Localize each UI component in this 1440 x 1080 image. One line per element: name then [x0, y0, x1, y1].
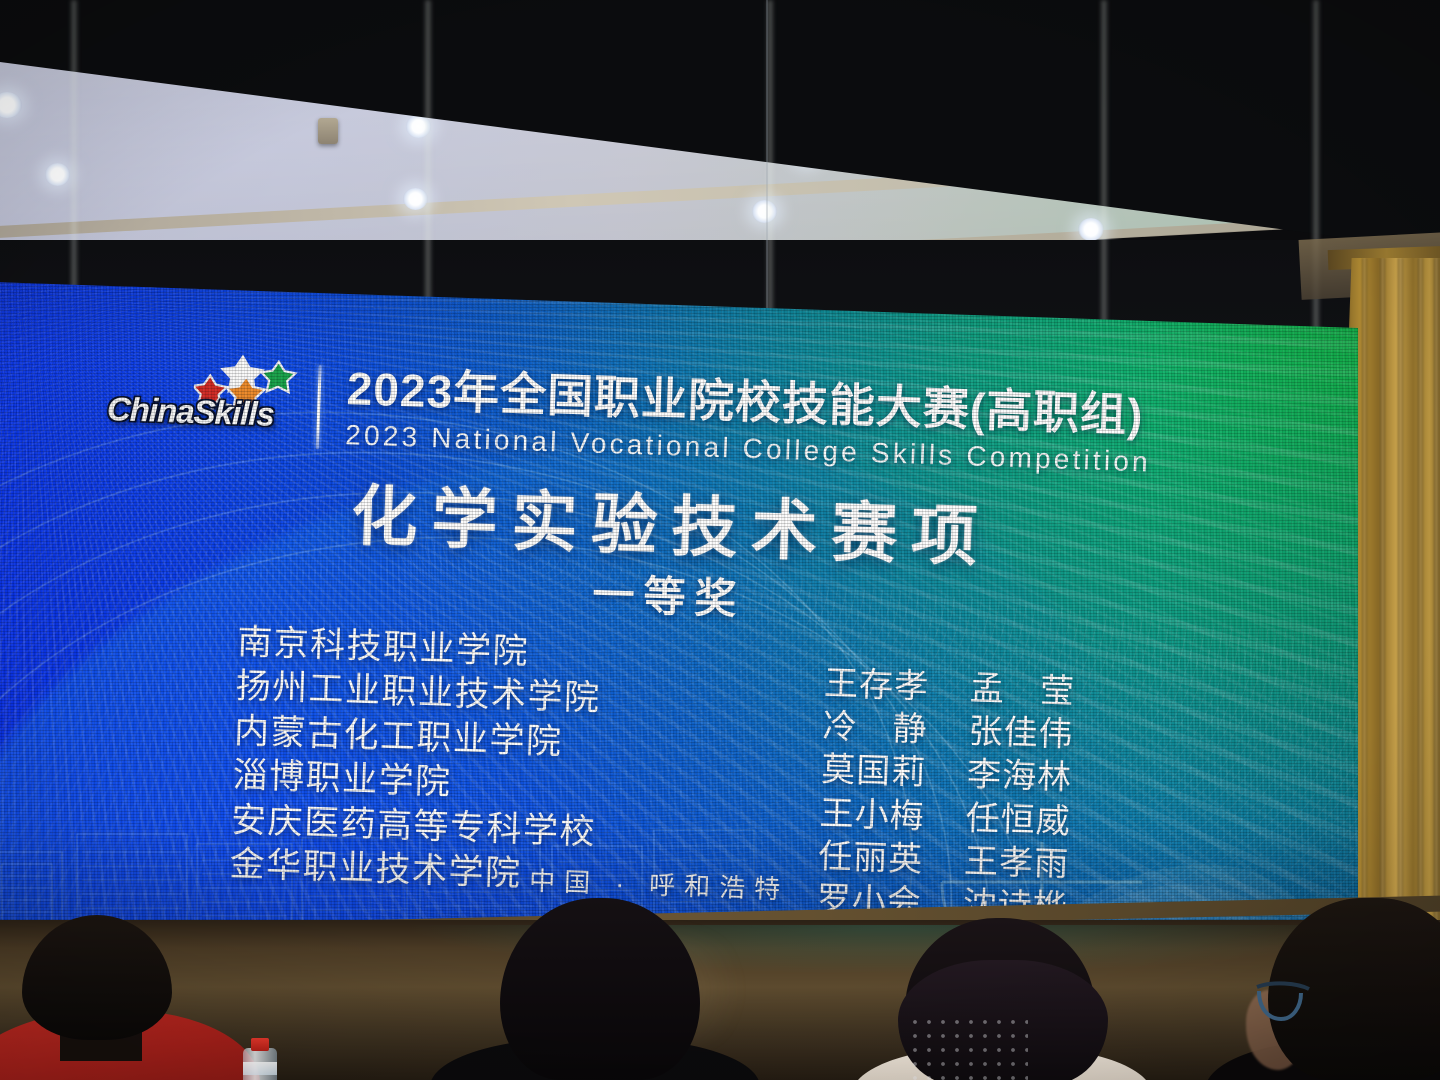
bottle-label — [243, 1062, 277, 1075]
curtain-fold — [1380, 258, 1385, 958]
member-name: 任恒威 — [965, 797, 1094, 845]
backdrop-pleat — [1312, 0, 1320, 360]
member-name: 李海林 — [966, 754, 1095, 802]
water-bottle[interactable] — [243, 1038, 277, 1080]
backdrop-seam — [766, 0, 768, 360]
led-screen-surface: ChinaSkills 2023年全国职业院校技能大赛(高职组) 2023 Na… — [0, 262, 1358, 962]
member-name: 王小梅 — [819, 792, 948, 840]
header-divider — [316, 365, 322, 449]
member-name: 孟 莹 — [969, 668, 1098, 716]
member-name: 莫国莉 — [820, 749, 949, 797]
competition-title-block: 2023年全国职业院校技能大赛(高职组) 2023 National Vocat… — [345, 363, 1154, 482]
curtain-fold — [1418, 258, 1423, 958]
member-name: 王存孝 — [823, 663, 952, 711]
slide-content: ChinaSkills 2023年全国职业院校技能大赛(高职组) 2023 Na… — [0, 262, 1357, 962]
winners-columns: 南京科技职业学院 扬州工业职业技术学院 内蒙古化工职业学院 淄博职业学院 安庆医… — [0, 612, 1345, 888]
curtain-fold — [1434, 258, 1439, 958]
backdrop-pleat — [1100, 0, 1108, 360]
bottle-cap — [251, 1038, 269, 1051]
chinaskills-logo: ChinaSkills — [106, 354, 309, 453]
member-name: 冷 静 — [822, 706, 951, 754]
clothing-dot-pattern — [908, 1015, 1028, 1080]
ceiling-downlight — [45, 163, 70, 186]
member-name: 张佳伟 — [968, 711, 1097, 759]
led-video-wall[interactable]: ChinaSkills 2023年全国职业院校技能大赛(高职组) 2023 Na… — [0, 262, 1358, 962]
ceiling-projector-box — [318, 118, 338, 144]
conference-hall-scene: ChinaSkills 2023年全国职业院校技能大赛(高职组) 2023 Na… — [0, 0, 1440, 1080]
curtain-fold — [1398, 258, 1403, 958]
curtain-fold — [1362, 258, 1367, 958]
eyeglasses-icon — [1255, 975, 1341, 1033]
chinaskills-wordmark: ChinaSkills — [106, 390, 307, 435]
